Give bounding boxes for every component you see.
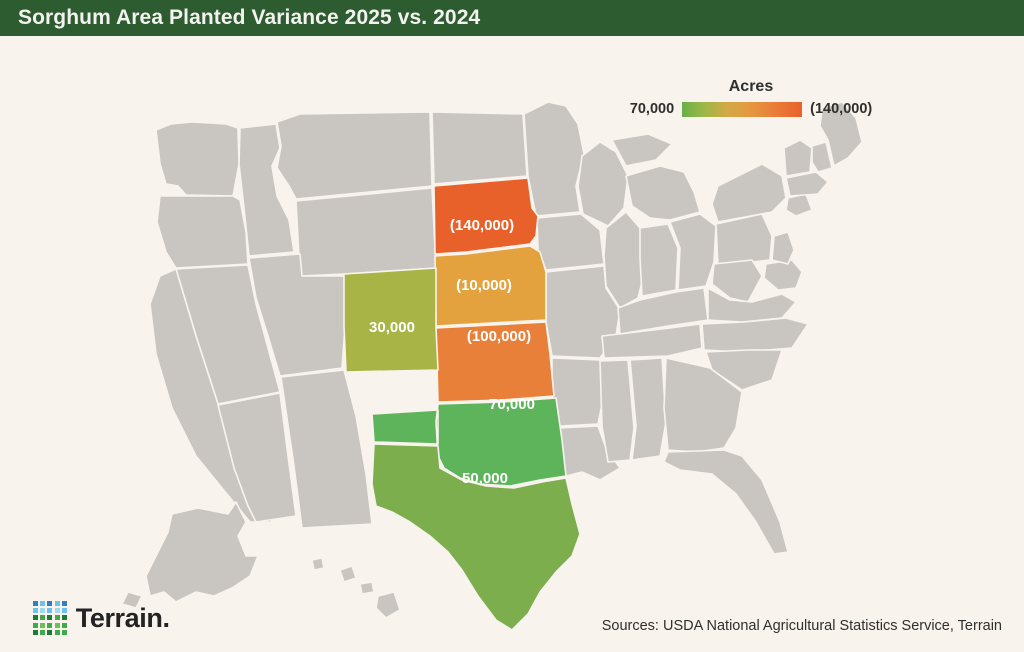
chart-page: Sorghum Area Planted Variance 2025 vs. 2…	[0, 0, 1024, 652]
logo-grid-cell	[40, 623, 45, 628]
legend: Acres 70,000 (140,000)	[616, 78, 886, 117]
state-alabama[interactable]	[630, 358, 666, 460]
logo-grid-cell	[40, 601, 45, 606]
state-washington[interactable]	[156, 122, 239, 196]
state-minnesota[interactable]	[524, 102, 584, 216]
logo-grid-cell	[33, 601, 38, 606]
state-pennsylvania[interactable]	[716, 214, 772, 266]
state-alaska[interactable]	[122, 502, 258, 608]
logo-grid-cell	[55, 601, 60, 606]
logo-grid-cell	[47, 623, 52, 628]
logo-grid-cell	[62, 615, 67, 620]
logo-grid-cell	[33, 630, 38, 635]
state-arkansas[interactable]	[552, 358, 604, 426]
state-indiana[interactable]	[640, 224, 678, 296]
state-new-jersey[interactable]	[772, 232, 794, 264]
label-colorado: 30,000	[369, 319, 415, 336]
legend-scale: 70,000 (140,000)	[616, 101, 886, 117]
logo-grid-cell	[47, 630, 52, 635]
state-north-carolina[interactable]	[702, 318, 808, 352]
logo-grid-cell	[55, 615, 60, 620]
legend-title: Acres	[616, 78, 886, 96]
logo-grid-cell	[62, 630, 67, 635]
sources-note: Sources: USDA National Agricultural Stat…	[602, 618, 1002, 634]
terrain-logo: Terrain.	[33, 601, 170, 635]
state-hawaii[interactable]	[312, 558, 400, 618]
state-connecticut[interactable]	[786, 194, 812, 216]
logo-wordmark: Terrain.	[76, 605, 170, 632]
logo-grid-cell	[55, 630, 60, 635]
state-vermont[interactable]	[784, 140, 812, 176]
logo-grid-cell	[33, 623, 38, 628]
label-south-dakota: (140,000)	[450, 217, 514, 234]
logo-grid-cell	[55, 608, 60, 613]
logo-grid-cell	[47, 608, 52, 613]
state-mississippi[interactable]	[600, 360, 634, 462]
legend-max-label: (140,000)	[810, 101, 872, 117]
logo-grid-cell	[47, 615, 52, 620]
page-title: Sorghum Area Planted Variance 2025 vs. 2…	[18, 6, 480, 30]
logo-grid-cell	[55, 623, 60, 628]
page-header: Sorghum Area Planted Variance 2025 vs. 2…	[0, 0, 1024, 36]
label-nebraska: (10,000)	[456, 277, 512, 294]
state-oregon[interactable]	[157, 196, 248, 268]
state-wyoming[interactable]	[296, 188, 436, 276]
legend-gradient-bar	[682, 102, 802, 117]
legend-min-label: 70,000	[630, 101, 674, 117]
logo-grid-icon	[33, 601, 67, 635]
logo-grid-cell	[40, 608, 45, 613]
us-choropleth-map: (140,000) (10,000) (100,000) 30,000 70,0…	[0, 36, 1024, 652]
logo-grid-cell	[62, 623, 67, 628]
state-maryland[interactable]	[764, 260, 802, 290]
label-kansas: (100,000)	[467, 328, 531, 345]
logo-grid-cell	[33, 615, 38, 620]
logo-grid-cell	[62, 601, 67, 606]
label-oklahoma: 70,000	[489, 396, 535, 413]
map-container: (140,000) (10,000) (100,000) 30,000 70,0…	[0, 36, 1024, 652]
logo-grid-cell	[40, 615, 45, 620]
logo-grid-cell	[33, 608, 38, 613]
logo-grid-cell	[62, 608, 67, 613]
state-montana[interactable]	[277, 112, 432, 199]
state-north-dakota[interactable]	[432, 112, 527, 184]
logo-grid-cell	[40, 630, 45, 635]
label-texas: 50,000	[462, 470, 508, 487]
state-florida[interactable]	[664, 450, 788, 554]
state-iowa[interactable]	[537, 214, 604, 270]
state-new-york[interactable]	[712, 164, 786, 222]
logo-grid-cell	[47, 601, 52, 606]
